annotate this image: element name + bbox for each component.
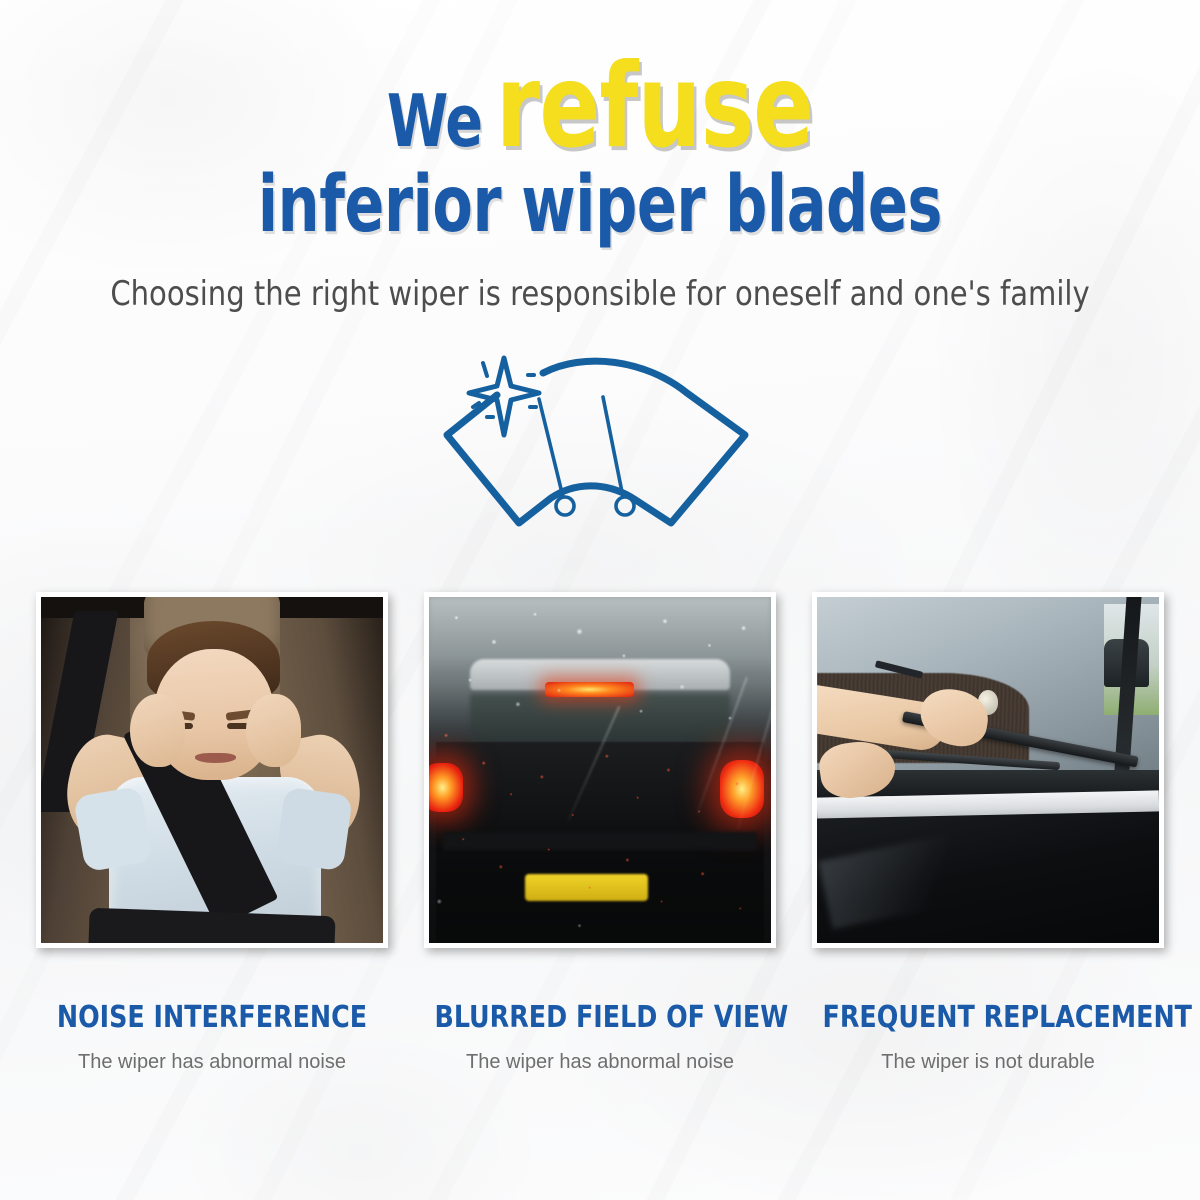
feature-caption-row: NOISE INTERFERENCE The wiper has abnorma… [36,1000,1164,1074]
headline-line-1: Werefuse [84,52,1116,161]
boy-left-sleeve [73,785,154,872]
feature-photo-row [36,592,1164,948]
photo-blurred-field-of-view [429,597,771,943]
feature-photo-card-replacement [812,592,1164,948]
wiper-icon-container [0,345,1200,540]
feature-photo-card-blurred-view [424,592,776,948]
feature-title-noise: NOISE INTERFERENCE [47,1000,378,1035]
feature-caption-blurred-view: The wiper has abnormal noise [424,1051,776,1074]
hero-headline-block: Werefuse inferior wiper blades [0,52,1200,246]
headline-word-we: We [387,79,482,163]
caption-cell-replacement: FREQUENT REPLACEMENT The wiper is not du… [812,1000,1164,1074]
headline-line-2: inferior wiper blades [96,165,1104,246]
boy-hand-left-on-ear [130,694,185,767]
photo-noise-interference [41,597,383,943]
rain-droplets-overlay [429,597,771,943]
windshield-wiper-sparkle-icon [435,345,765,540]
caption-cell-blurred-view: BLURRED FIELD OF VIEW The wiper has abno… [424,1000,776,1074]
feature-caption-replacement: The wiper is not durable [812,1051,1164,1074]
boy-mouth [195,753,236,763]
hero-subtitle: Choosing the right wiper is responsible … [30,274,1170,314]
feature-title-blurred-view: BLURRED FIELD OF VIEW [435,1000,766,1035]
caption-cell-noise: NOISE INTERFERENCE The wiper has abnorma… [36,1000,388,1074]
boy-hand-right-on-ear [246,694,301,767]
headline-word-refuse: refuse [496,39,813,174]
photo-frequent-replacement [817,597,1159,943]
feature-title-replacement: FREQUENT REPLACEMENT [823,1000,1154,1035]
feature-photo-card-noise [36,592,388,948]
boy-right-sleeve [275,786,353,871]
feature-caption-noise: The wiper has abnormal noise [36,1051,388,1074]
